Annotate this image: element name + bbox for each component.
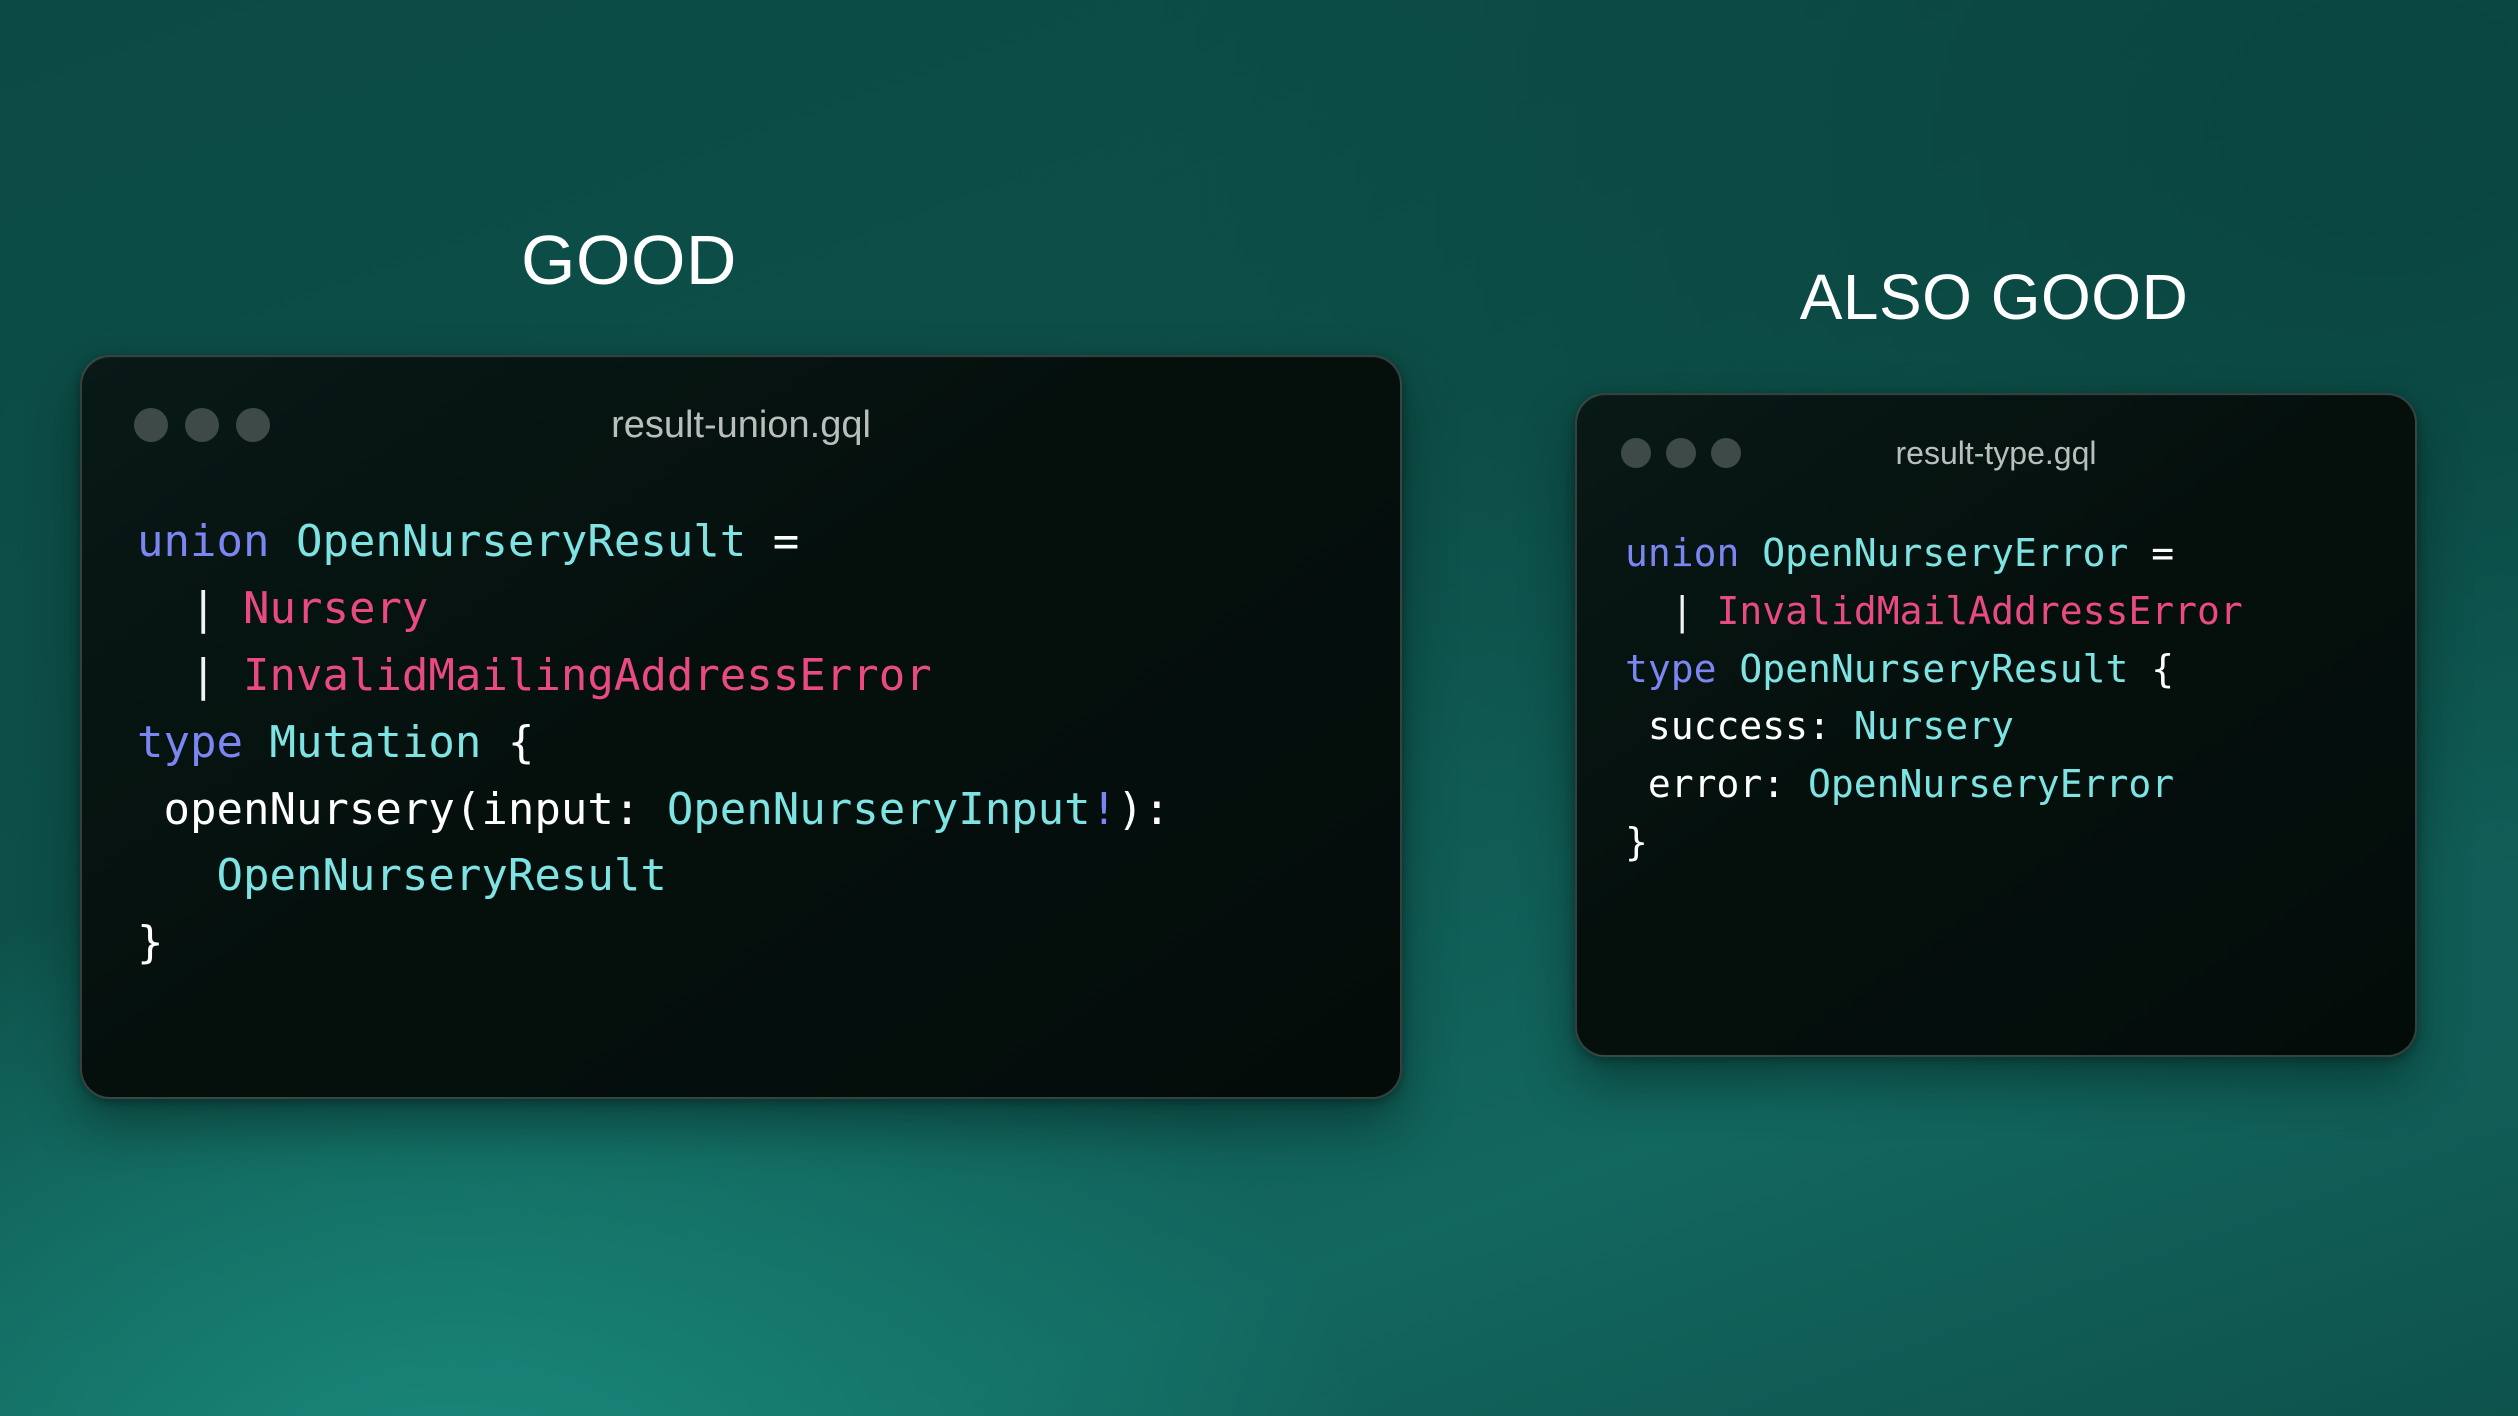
code-line: openNursery(input: OpenNurseryInput!): xyxy=(137,777,1400,844)
code-token-pun xyxy=(269,516,296,567)
code-token-pipe: | xyxy=(190,650,217,701)
code-token-pun xyxy=(1625,589,1671,633)
code-token-pun: error: xyxy=(1625,762,1808,806)
code-token-pun xyxy=(1739,531,1762,575)
code-token-pun xyxy=(481,717,508,768)
code-line: | Nursery xyxy=(137,576,1400,643)
code-token-bang: ! xyxy=(1091,784,1118,835)
code-token-mem: InvalidMailAddressError xyxy=(1717,589,2243,633)
code-token-pun xyxy=(137,650,190,701)
code-token-pipe: | xyxy=(1671,589,1694,633)
code-card-good: result-union.gql union OpenNurseryResult… xyxy=(80,355,1402,1099)
code-token-typ: OpenNurseryResult xyxy=(1739,647,2128,691)
code-line: } xyxy=(1625,814,2415,872)
code-token-typ: OpenNurseryError xyxy=(1808,762,2174,806)
code-token-mem: Nursery xyxy=(243,583,428,634)
code-token-pun: } xyxy=(1625,820,1648,864)
code-card-filename-also: result-type.gql xyxy=(1577,435,2415,472)
code-token-pun xyxy=(1694,589,1717,633)
code-token-pun xyxy=(2128,531,2151,575)
code-token-pun: = xyxy=(2151,531,2174,575)
code-token-kw: union xyxy=(1625,531,1739,575)
panel-title-good: GOOD xyxy=(0,225,1288,295)
code-token-pun xyxy=(216,583,243,634)
code-block-good[interactable]: union OpenNurseryResult = | Nursery | In… xyxy=(137,509,1400,977)
code-line: | InvalidMailingAddressError xyxy=(137,643,1400,710)
code-card-titlebar-good: result-union.gql xyxy=(82,383,1400,467)
code-token-pun xyxy=(137,583,190,634)
code-line: OpenNurseryResult xyxy=(137,843,1400,910)
panel-also: ALSO GOOD result-type.gql union OpenNurs… xyxy=(1575,265,2413,1225)
code-token-pun: { xyxy=(508,717,535,768)
code-line: type OpenNurseryResult { xyxy=(1625,641,2415,699)
code-line: error: OpenNurseryError xyxy=(1625,756,2415,814)
code-token-pun: { xyxy=(2151,647,2174,691)
code-card-titlebar-also: result-type.gql xyxy=(1577,415,2415,491)
code-token-pun: ): xyxy=(1117,784,1170,835)
code-token-kw: type xyxy=(137,717,243,768)
code-token-pun xyxy=(2128,647,2151,691)
panel-title-also: ALSO GOOD xyxy=(1575,265,2413,329)
code-token-pun: openNursery(input: xyxy=(137,784,667,835)
code-token-kw: type xyxy=(1625,647,1717,691)
code-token-kw: union xyxy=(137,516,269,567)
code-line: success: Nursery xyxy=(1625,698,2415,756)
code-card-filename-good: result-union.gql xyxy=(82,404,1400,447)
code-token-pipe: | xyxy=(190,583,217,634)
code-token-pun xyxy=(243,717,270,768)
code-token-typ: OpenNurseryResult xyxy=(216,850,666,901)
code-block-also[interactable]: union OpenNurseryError = | InvalidMailAd… xyxy=(1625,525,2415,872)
code-token-pun xyxy=(1717,647,1740,691)
code-line: type Mutation { xyxy=(137,710,1400,777)
code-card-also: result-type.gql union OpenNurseryError =… xyxy=(1575,393,2417,1057)
code-line: union OpenNurseryResult = xyxy=(137,509,1400,576)
code-token-pun: success: xyxy=(1625,704,1854,748)
panel-good: GOOD result-union.gql union OpenNurseryR… xyxy=(80,225,1398,1225)
code-token-typ: OpenNurseryResult xyxy=(296,516,746,567)
code-token-typ: Mutation xyxy=(269,717,481,768)
code-token-mem: InvalidMailingAddressError xyxy=(243,650,932,701)
code-token-pun xyxy=(216,650,243,701)
code-line: } xyxy=(137,910,1400,977)
code-line: union OpenNurseryError = xyxy=(1625,525,2415,583)
code-token-typ: Nursery xyxy=(1854,704,2014,748)
slide-canvas: GOOD result-union.gql union OpenNurseryR… xyxy=(0,0,2518,1416)
code-token-typ: OpenNurseryError xyxy=(1762,531,2128,575)
code-line: | InvalidMailAddressError xyxy=(1625,583,2415,641)
code-token-pun xyxy=(746,516,773,567)
code-token-pun: } xyxy=(137,917,164,968)
code-token-pun: = xyxy=(773,516,800,567)
code-token-pun xyxy=(137,850,216,901)
code-token-typ: OpenNurseryInput xyxy=(667,784,1091,835)
